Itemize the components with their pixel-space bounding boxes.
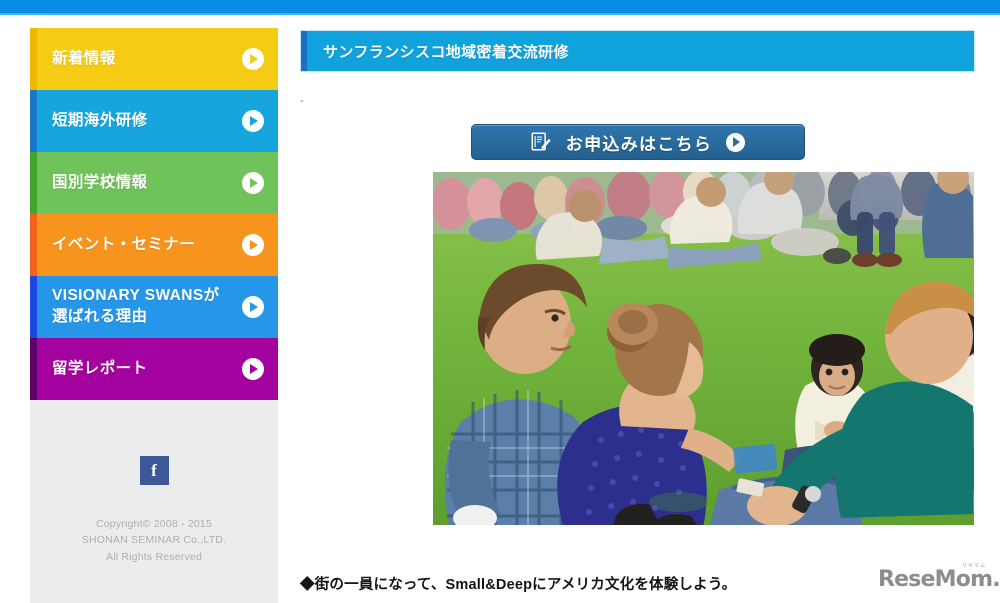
play-circle-icon — [726, 133, 745, 152]
sidebar-item-label: 留学レポート — [52, 359, 234, 380]
main-content: サンフランシスコ地域密着交流研修 - お申込みはこちら — [300, 30, 976, 72]
sidebar-item-new-info[interactable]: 新着情報 — [30, 28, 278, 90]
item-accent-bar — [30, 90, 37, 152]
sidebar: 新着情報 短期海外研修 国別学校情報 イベント・セミナー VISIONA — [30, 28, 278, 603]
play-circle-icon[interactable] — [242, 110, 264, 132]
facebook-glyph: f — [140, 462, 169, 479]
sidebar-item-study-abroad-report[interactable]: 留学レポート — [30, 338, 278, 400]
photo-caption: ◆街の一員になって、Small&Deepにアメリカ文化を体験しよう。 — [300, 573, 736, 594]
play-circle-icon[interactable] — [242, 234, 264, 256]
top-blue-bar — [0, 0, 1000, 13]
title-accent-bar — [301, 31, 307, 71]
apply-button-label: お申込みはこちら — [566, 130, 712, 155]
sidebar-item-short-term-overseas[interactable]: 短期海外研修 — [30, 90, 278, 152]
sidebar-item-label: VISIONARY SWANSが 選ばれる理由 — [52, 286, 234, 328]
sidebar-item-label: 新着情報 — [52, 49, 234, 70]
sidebar-item-label: 国別学校情報 — [52, 173, 234, 194]
facebook-icon[interactable]: f — [140, 456, 169, 485]
play-circle-icon[interactable] — [242, 296, 264, 318]
sidebar-item-label: 短期海外研修 — [52, 111, 234, 132]
item-accent-bar — [30, 276, 37, 338]
play-circle-icon[interactable] — [242, 48, 264, 70]
watermark-logo: ReseMom. — [878, 567, 1000, 592]
item-accent-bar — [30, 152, 37, 214]
item-accent-bar — [30, 214, 37, 276]
students-on-grass-photo — [433, 172, 974, 525]
notepad-pencil-icon — [530, 131, 552, 153]
page-root: 新着情報 短期海外研修 国別学校情報 イベント・セミナー VISIONA — [0, 0, 1000, 603]
sidebar-item-school-by-country[interactable]: 国別学校情報 — [30, 152, 278, 214]
play-circle-icon[interactable] — [242, 172, 264, 194]
sidebar-item-label: イベント・セミナー — [52, 235, 234, 256]
top-bar-underline — [0, 13, 1000, 15]
dash-mark: - — [300, 96, 304, 107]
page-title-bar: サンフランシスコ地域密着交流研修 — [300, 30, 975, 72]
sidebar-nav: 新着情報 短期海外研修 国別学校情報 イベント・セミナー VISIONA — [30, 28, 278, 400]
sidebar-item-events-seminars[interactable]: イベント・セミナー — [30, 214, 278, 276]
page-title: サンフランシスコ地域密着交流研修 — [323, 41, 569, 62]
play-circle-icon[interactable] — [242, 358, 264, 380]
sidebar-item-why-visionary-swans[interactable]: VISIONARY SWANSが 選ばれる理由 — [30, 276, 278, 338]
apply-button-row: お申込みはこちら — [300, 124, 975, 160]
item-accent-bar — [30, 28, 37, 90]
apply-button[interactable]: お申込みはこちら — [471, 124, 805, 160]
sidebar-footer: f Copyright© 2008 - 2015 SHONAN SEMINAR … — [30, 428, 278, 565]
copyright-text: Copyright© 2008 - 2015 SHONAN SEMINAR Co… — [30, 516, 278, 565]
item-accent-bar — [30, 338, 37, 400]
resemom-watermark: リセマム ReseMom. — [878, 562, 990, 594]
